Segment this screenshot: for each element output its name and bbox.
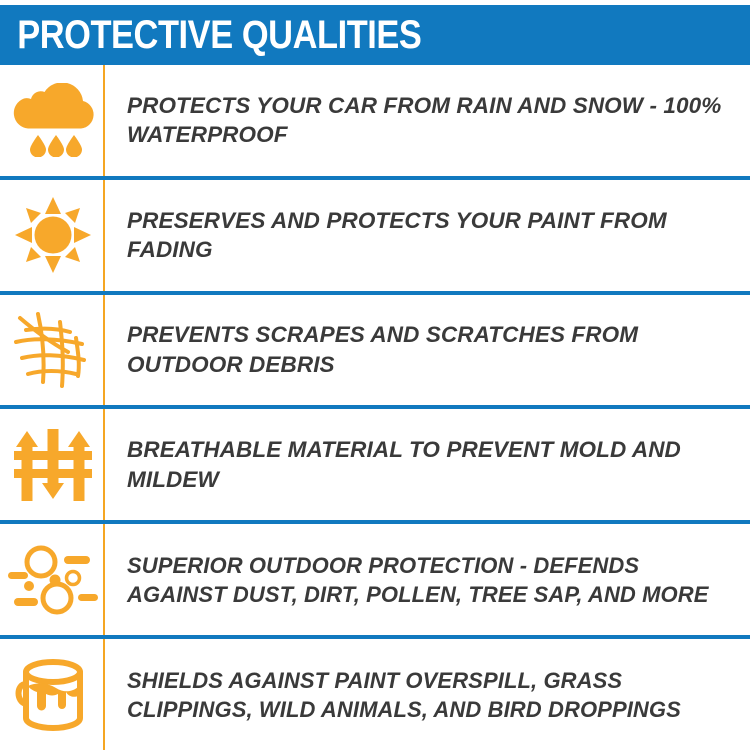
- feature-text: SHIELDS AGAINST PAINT OVERSPILL, GRASS C…: [127, 666, 736, 724]
- text-cell: SUPERIOR OUTDOOR PROTECTION - DEFENDS AG…: [105, 524, 750, 635]
- icon-cell: [0, 180, 105, 291]
- page-title: PROTECTIVE QUALITIES: [0, 15, 421, 55]
- feature-text: PROTECTS YOUR CAR FROM RAIN AND SNOW - 1…: [127, 91, 736, 150]
- text-cell: PREVENTS SCRAPES AND SCRATCHES FROM OUTD…: [105, 295, 750, 406]
- feature-row: PREVENTS SCRAPES AND SCRATCHES FROM OUTD…: [0, 295, 750, 410]
- feature-text: PRESERVES AND PROTECTS YOUR PAINT FROM F…: [127, 206, 736, 265]
- text-cell: SHIELDS AGAINST PAINT OVERSPILL, GRASS C…: [105, 639, 750, 750]
- icon-cell: [0, 639, 105, 750]
- icon-cell: [0, 409, 105, 520]
- feature-text: SUPERIOR OUTDOOR PROTECTION - DEFENDS AG…: [127, 551, 736, 609]
- text-cell: BREATHABLE MATERIAL TO PREVENT MOLD AND …: [105, 409, 750, 520]
- feature-row: SHIELDS AGAINST PAINT OVERSPILL, GRASS C…: [0, 639, 750, 750]
- feature-row: PRESERVES AND PROTECTS YOUR PAINT FROM F…: [0, 180, 750, 295]
- header-banner: PROTECTIVE QUALITIES: [0, 5, 750, 65]
- feature-row: BREATHABLE MATERIAL TO PREVENT MOLD AND …: [0, 409, 750, 524]
- icon-cell: [0, 65, 105, 176]
- feature-text: BREATHABLE MATERIAL TO PREVENT MOLD AND …: [127, 435, 736, 494]
- feature-row: SUPERIOR OUTDOOR PROTECTION - DEFENDS AG…: [0, 524, 750, 639]
- feature-row: PROTECTS YOUR CAR FROM RAIN AND SNOW - 1…: [0, 65, 750, 180]
- text-cell: PRESERVES AND PROTECTS YOUR PAINT FROM F…: [105, 180, 750, 291]
- sun-icon: [13, 195, 93, 275]
- protective-qualities-infographic: PROTECTIVE QUALITIES PROTECTS YOUR CAR F…: [0, 0, 750, 750]
- scratches-debris-icon: [12, 308, 94, 392]
- breathable-airflow-arrows-icon: [14, 425, 92, 505]
- feature-text: PREVENTS SCRAPES AND SCRATCHES FROM OUTD…: [127, 320, 736, 379]
- icon-cell: [0, 295, 105, 406]
- icon-cell: [0, 524, 105, 635]
- feature-list: PROTECTS YOUR CAR FROM RAIN AND SNOW - 1…: [0, 65, 750, 750]
- dust-particles-icon: [8, 544, 98, 616]
- paint-bucket-icon: [12, 656, 94, 734]
- text-cell: PROTECTS YOUR CAR FROM RAIN AND SNOW - 1…: [105, 65, 750, 176]
- rain-cloud-icon: [11, 83, 95, 157]
